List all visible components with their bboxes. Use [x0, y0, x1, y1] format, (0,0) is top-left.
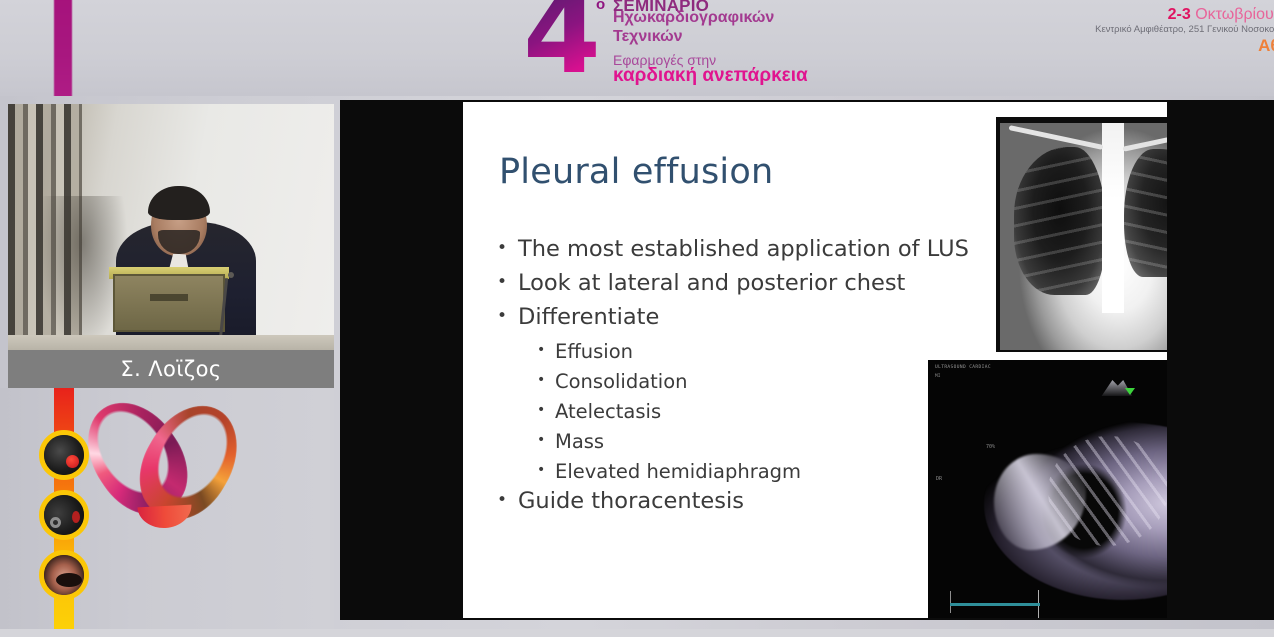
bottom-strip [0, 629, 1274, 637]
logo-number-four: 4 [523, 0, 613, 90]
conference-header-banner: 4 ο ΣΕΜΙΝΑΡΙΟ Ηχωκαρδιογραφικών Τεχνικών… [0, 0, 1274, 96]
ultrasound-green-marker-icon [1125, 388, 1135, 395]
xray-left-ribs [1014, 147, 1106, 295]
podium-desk-edge [8, 335, 334, 351]
header-subtitle-line-2: Τεχνικών [613, 28, 683, 46]
broadcast-stage: 4 ο ΣΕΜΙΝΑΡΙΟ Ηχωκαρδιογραφικών Τεχνικών… [0, 0, 1274, 637]
thumbnail-icon-1[interactable] [39, 430, 89, 480]
thumbnail-1-image [44, 435, 84, 475]
slide-title: Pleural effusion [499, 152, 773, 192]
ultrasound-header-text: ULTRASOUND CARDIAC [935, 365, 991, 370]
logo-ordinal-superscript: ο [596, 0, 605, 13]
ultrasound-mi-label: MI [935, 374, 940, 379]
slide-frame: Pleural effusion The most established ap… [340, 100, 1274, 620]
thumbnail-3-detail [56, 573, 82, 587]
thumbnail-2-ring-icon [50, 517, 61, 528]
xray-mediastinum [1102, 123, 1124, 313]
laptop-hinge [150, 294, 188, 301]
header-venue: Κεντρικό Αμφιθέατρο, 251 Γενικού Νοσοκομ… [1095, 24, 1274, 35]
speaker-name-label: Σ. Λοϊζος [120, 357, 221, 381]
chest-xray-image [996, 117, 1167, 352]
thumbnail-icon-3[interactable] [39, 550, 89, 600]
sub-bullet-item: Atelectasis [493, 398, 983, 425]
podium-laptop [113, 274, 225, 332]
header-date-month: Οκτωβρίου 20 [1191, 6, 1274, 23]
ultrasound-gain-label: 70% [986, 444, 995, 450]
lung-ultrasound-image: ULTRASOUND CARDIAC MI 70% DR Gn 0.0 12.0 [928, 360, 1167, 618]
bullet-item: Look at lateral and posterior chest [493, 270, 983, 297]
speaker-video-panel[interactable] [8, 104, 334, 351]
header-subtitle-line-1: Ηχωκαρδιογραφικών [613, 9, 774, 27]
sub-bullet-item: Effusion [493, 338, 983, 365]
magenta-accent-bar [54, 0, 72, 96]
sub-bullet-item: Consolidation [493, 368, 983, 395]
bullet-item: Guide thoracentesis [493, 488, 983, 515]
sub-bullet-item: Elevated hemidiaphragm [493, 458, 983, 485]
speaker-nameplate: Σ. Λοϊζος [8, 350, 334, 388]
header-main-topic: καρδιακή ανεπάρκεια [613, 65, 808, 87]
bullet-item: Differentiate [493, 304, 983, 331]
slide-bullet-list: The most established application of LUS … [493, 236, 983, 522]
thumbnail-1-red-marker-icon [66, 455, 79, 468]
header-city: Αθή [1258, 36, 1274, 56]
ultrasound-dynamic-range-label: DR [936, 476, 942, 482]
ultrasound-timeline-bar[interactable] [950, 603, 1040, 606]
heart-tip [137, 505, 192, 530]
header-date-days: 2-3 [1168, 6, 1191, 23]
decorative-sidebar [0, 388, 334, 637]
presentation-slide: Pleural effusion The most established ap… [463, 102, 1167, 618]
thumbnail-icon-2[interactable] [39, 490, 89, 540]
sub-bullet-item: Mass [493, 428, 983, 455]
header-date: 2-3 Οκτωβρίου 20 [1168, 6, 1274, 24]
bullet-item: The most established application of LUS [493, 236, 983, 263]
microphone-head [228, 272, 234, 278]
painted-heart-logo [88, 394, 238, 544]
thumbnail-2-red-shape-icon [72, 511, 80, 523]
ultrasound-timeline-tick-start [950, 591, 951, 613]
